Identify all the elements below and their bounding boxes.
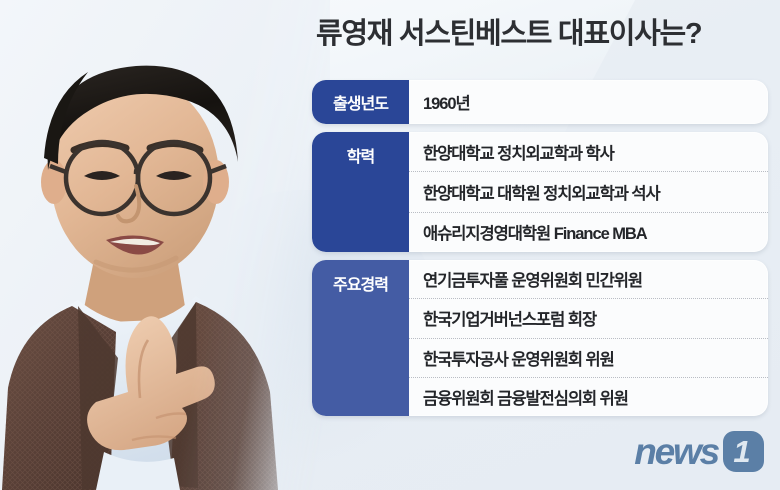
info-card-birth-year: 출생년도 1960년 xyxy=(312,80,768,124)
portrait-photo: 류영재 서스틴베스트 대표이사 인물 사진 xyxy=(0,0,330,490)
news1-logo-wordmark: news xyxy=(634,433,718,470)
news1-logo: news 1 xyxy=(634,431,764,472)
info-card-rows-birth-year: 1960년 xyxy=(409,80,768,124)
info-row: 금융위원회 금융발전심의회 위원 xyxy=(409,377,768,416)
info-card-career: 주요경력 연기금투자풀 운영위원회 민간위원 한국기업거버넌스포럼 회장 한국투… xyxy=(312,260,768,416)
infographic-canvas: 류영재 서스틴베스트 대표이사 인물 사진 xyxy=(0,0,780,490)
news1-logo-one-icon: 1 xyxy=(723,431,764,472)
info-card-education: 학력 한양대학교 정치외교학과 학사 한양대학교 대학원 정치외교학과 석사 애… xyxy=(312,132,768,252)
info-card-rows-career: 연기금투자풀 운영위원회 민간위원 한국기업거버넌스포럼 회장 한국투자공사 운… xyxy=(409,260,768,416)
info-row: 한양대학교 대학원 정치외교학과 석사 xyxy=(409,171,768,211)
info-card-rows-education: 한양대학교 정치외교학과 학사 한양대학교 대학원 정치외교학과 석사 애슈리지… xyxy=(409,132,768,252)
info-row: 연기금투자풀 운영위원회 민간위원 xyxy=(409,260,768,298)
info-row: 1960년 xyxy=(409,80,768,124)
info-row: 애슈리지경영대학원 Finance MBA xyxy=(409,212,768,252)
info-row: 한양대학교 정치외교학과 학사 xyxy=(409,132,768,171)
info-card-label-education: 학력 xyxy=(312,132,409,252)
page-title: 류영재 서스틴베스트 대표이사는? xyxy=(316,16,768,52)
info-row: 한국투자공사 운영위원회 위원 xyxy=(409,338,768,377)
info-row: 한국기업거버넌스포럼 회장 xyxy=(409,298,768,337)
info-card-label-career: 주요경력 xyxy=(312,260,409,416)
info-card-label-birth-year: 출생년도 xyxy=(312,80,409,124)
